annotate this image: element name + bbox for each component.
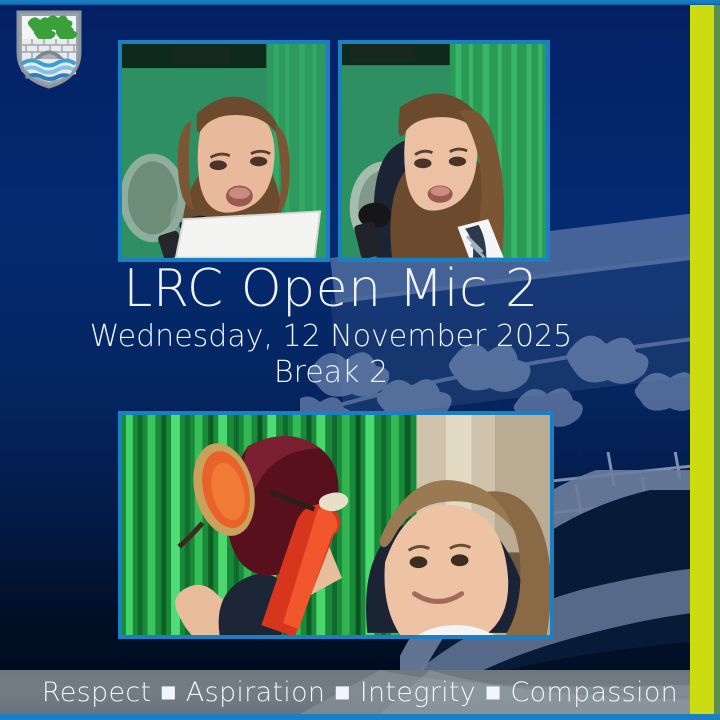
footer-stripe-edge (714, 670, 720, 714)
event-photo-1 (118, 40, 330, 262)
event-date: Wednesday, 12 November 2025 (0, 319, 662, 356)
values-footer: Respect ■ Aspiration ■ Integrity ■ Compa… (0, 670, 720, 714)
school-values-text: Respect ■ Aspiration ■ Integrity ■ Compa… (42, 677, 678, 708)
school-crest-icon (14, 8, 84, 90)
accent-stripe-edge (714, 5, 720, 675)
top-border-rule (0, 0, 720, 5)
footer-stripe-yellow (690, 670, 714, 714)
event-photo-3 (118, 411, 554, 639)
poster-canvas: LRC Open Mic 2 Wednesday, 12 November 20… (0, 0, 720, 720)
bottom-border-rule (0, 714, 720, 720)
event-session: Break 2 (0, 355, 662, 392)
accent-stripe-yellow (690, 5, 714, 675)
page-title: LRC Open Mic 2 (0, 262, 662, 317)
title-block: LRC Open Mic 2 Wednesday, 12 November 20… (0, 262, 662, 392)
event-photo-2 (338, 40, 550, 262)
